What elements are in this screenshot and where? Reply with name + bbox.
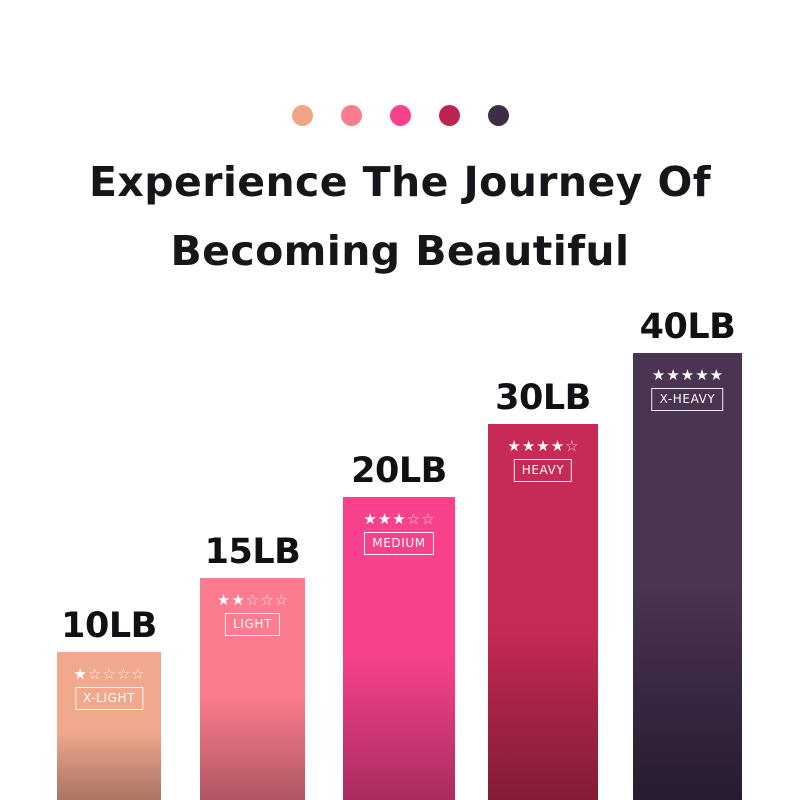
star-empty-icon: ☆ <box>88 666 101 682</box>
tier-label: HEAVY <box>514 459 573 482</box>
bar-badge: ★★☆☆☆LIGHT <box>208 592 296 636</box>
rating-stars: ★★★☆☆ <box>363 511 434 527</box>
bar-group-10lb[interactable]: 10LB★☆☆☆☆X-LIGHT <box>57 652 161 800</box>
tier-label: MEDIUM <box>364 532 433 555</box>
bar-gradient-overlay <box>633 353 742 800</box>
bar-badge: ★★★★☆HEAVY <box>497 438 589 482</box>
bar-badge: ★★★★★X-HEAVY <box>642 367 734 411</box>
tier-label: LIGHT <box>225 613 280 636</box>
bar-rect[interactable]: ★☆☆☆☆X-LIGHT <box>57 652 161 800</box>
resistance-band-bar-chart: 10LB★☆☆☆☆X-LIGHT15LB★★☆☆☆LIGHT20LB★★★☆☆M… <box>0 0 800 800</box>
star-filled-icon: ★ <box>507 438 520 454</box>
star-empty-icon: ☆ <box>407 511 420 527</box>
star-filled-icon: ★ <box>392 511 405 527</box>
star-filled-icon: ★ <box>73 666 86 682</box>
bar-group-20lb[interactable]: 20LB★★★☆☆MEDIUM <box>343 497 455 800</box>
star-filled-icon: ★ <box>536 438 549 454</box>
bar-value-label: 15LB <box>205 532 301 572</box>
bar-badge: ★★★☆☆MEDIUM <box>352 511 446 555</box>
star-empty-icon: ☆ <box>131 666 144 682</box>
bar-rect[interactable]: ★★★★★X-HEAVY <box>633 353 742 800</box>
promo-infographic: Experience The Journey Of Becoming Beaut… <box>0 0 800 800</box>
bar-rect[interactable]: ★★☆☆☆LIGHT <box>200 578 305 800</box>
star-filled-icon: ★ <box>681 367 694 383</box>
star-filled-icon: ★ <box>710 367 723 383</box>
rating-stars: ★★☆☆☆ <box>217 592 288 608</box>
star-filled-icon: ★ <box>695 367 708 383</box>
star-filled-icon: ★ <box>551 438 564 454</box>
bar-rect[interactable]: ★★★☆☆MEDIUM <box>343 497 455 800</box>
star-empty-icon: ☆ <box>275 592 288 608</box>
tier-label: X-HEAVY <box>652 388 724 411</box>
rating-stars: ★★★★☆ <box>507 438 578 454</box>
star-filled-icon: ★ <box>666 367 679 383</box>
rating-stars: ★☆☆☆☆ <box>73 666 144 682</box>
bar-value-label: 20LB <box>351 451 447 491</box>
star-empty-icon: ☆ <box>260 592 273 608</box>
star-empty-icon: ☆ <box>246 592 259 608</box>
bar-rect[interactable]: ★★★★☆HEAVY <box>488 424 598 800</box>
star-filled-icon: ★ <box>217 592 230 608</box>
star-filled-icon: ★ <box>363 511 376 527</box>
star-empty-icon: ☆ <box>102 666 115 682</box>
star-filled-icon: ★ <box>231 592 244 608</box>
star-empty-icon: ☆ <box>421 511 434 527</box>
bar-value-label: 40LB <box>640 307 736 347</box>
star-filled-icon: ★ <box>652 367 665 383</box>
star-filled-icon: ★ <box>378 511 391 527</box>
star-empty-icon: ☆ <box>565 438 578 454</box>
bar-value-label: 30LB <box>495 378 591 418</box>
bar-group-15lb[interactable]: 15LB★★☆☆☆LIGHT <box>200 578 305 800</box>
rating-stars: ★★★★★ <box>652 367 723 383</box>
star-filled-icon: ★ <box>522 438 535 454</box>
star-empty-icon: ☆ <box>117 666 130 682</box>
tier-label: X-LIGHT <box>75 687 143 710</box>
bar-value-label: 10LB <box>61 606 157 646</box>
bar-badge: ★☆☆☆☆X-LIGHT <box>65 666 152 710</box>
bar-group-40lb[interactable]: 40LB★★★★★X-HEAVY <box>633 353 742 800</box>
bar-group-30lb[interactable]: 30LB★★★★☆HEAVY <box>488 424 598 800</box>
